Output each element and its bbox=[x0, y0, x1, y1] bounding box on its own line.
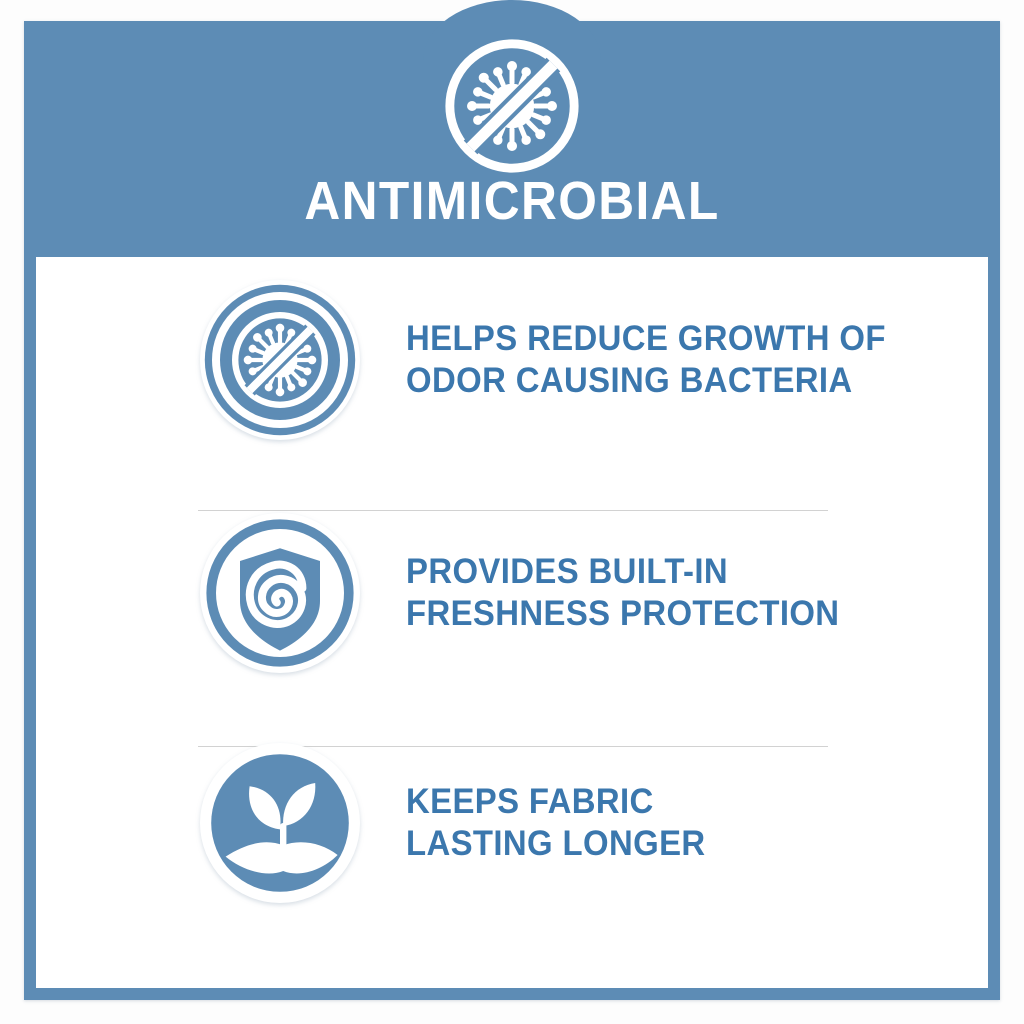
list-item-label: HELPS REDUCE GROWTH OF ODOR CAUSING BACT… bbox=[406, 318, 886, 402]
leaf-sprout-icon bbox=[200, 743, 360, 903]
header-banner: ANTIMICROBIAL bbox=[24, 21, 1000, 257]
list-item-label: KEEPS FABRIC LASTING LONGER bbox=[406, 781, 706, 865]
antimicrobial-infographic: ANTIMICROBIAL bbox=[0, 0, 1024, 1024]
shield-swirl-icon bbox=[200, 513, 360, 673]
list-item-label: PROVIDES BUILT-IN FRESHNESS PROTECTION bbox=[406, 551, 839, 635]
no-virus-icon bbox=[438, 32, 586, 180]
features-panel: HELPS REDUCE GROWTH OF ODOR CAUSING BACT… bbox=[36, 257, 988, 988]
list-item: PROVIDES BUILT-IN FRESHNESS PROTECTION bbox=[36, 500, 988, 685]
page-title: ANTIMICROBIAL bbox=[63, 171, 961, 231]
no-virus-icon bbox=[200, 280, 360, 440]
list-item: HELPS REDUCE GROWTH OF ODOR CAUSING BACT… bbox=[36, 267, 988, 452]
list-item: KEEPS FABRIC LASTING LONGER bbox=[36, 730, 988, 915]
